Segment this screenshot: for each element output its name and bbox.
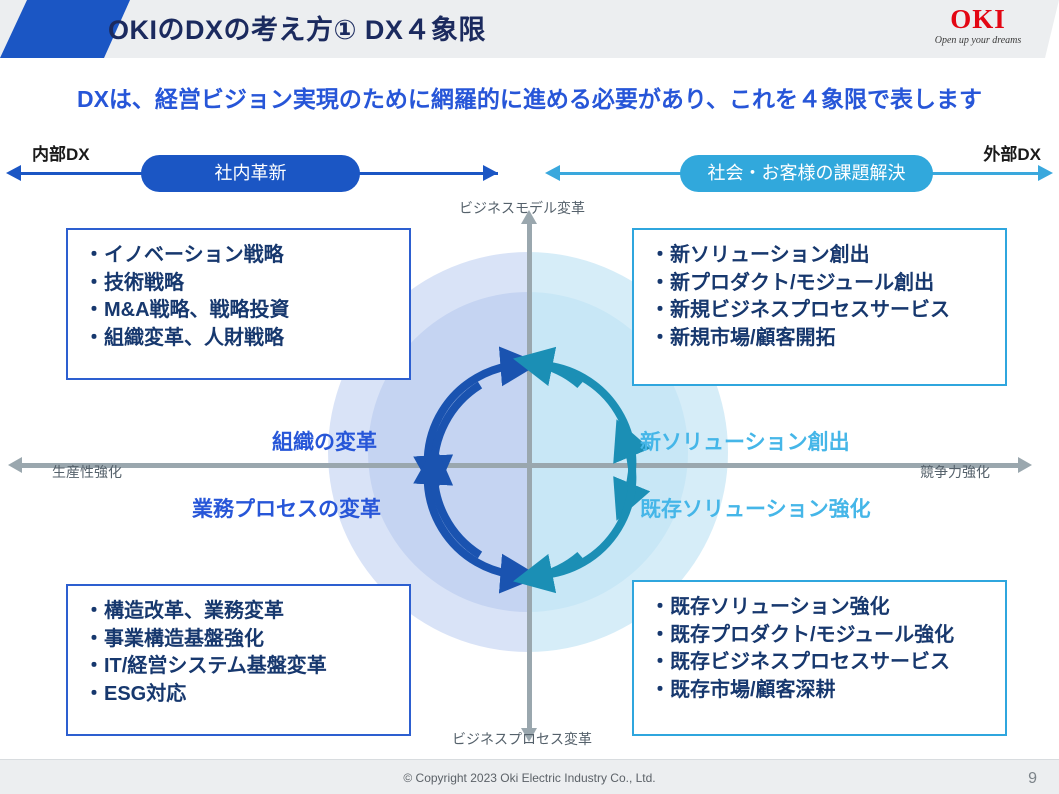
slide-subtitle: DXは、経営ビジョン実現のために網羅的に進める必要があり、これを４象限で表します [0, 80, 1059, 114]
quadrant-label-bottom-left: 業務プロセスの変革 [192, 493, 381, 523]
list-item: ・新規市場/顧客開拓 [650, 325, 989, 353]
arrow-right-icon [1038, 165, 1053, 181]
external-dx-pill: 社会・お客様の課題解決 [680, 155, 933, 192]
quadrant-label-bottom-right: 既存ソリューション強化 [640, 493, 871, 523]
list-item: ・ESG対応 [84, 681, 393, 709]
internal-dx-label: 内部DX [32, 140, 90, 165]
logo-wordmark: OKI [919, 6, 1037, 33]
list-item: ・IT/経営システム基盤変革 [84, 653, 393, 681]
list-item: ・M&A戦略、戦略投資 [84, 297, 393, 325]
arrow-right-icon [1018, 457, 1032, 473]
content-box-bottom-left: ・構造改革、業務変革 ・事業構造基盤強化 ・IT/経営システム基盤変革 ・ESG… [66, 584, 411, 736]
arrow-left-icon [8, 457, 22, 473]
list-item: ・既存ソリューション強化 [650, 594, 989, 622]
list-item: ・構造改革、業務変革 [84, 598, 393, 626]
axis-label-left: 生産性強化 [52, 462, 122, 482]
internal-dx-pill: 社内革新 [141, 155, 360, 192]
arrow-left-icon [6, 165, 21, 181]
arrow-right-icon [483, 165, 498, 181]
axis-label-bottom: ビジネスプロセス変革 [452, 729, 592, 749]
list-item: ・イノベーション戦略 [84, 242, 393, 270]
list-item: ・既存市場/顧客深耕 [650, 677, 989, 705]
content-box-top-right: ・新ソリューション創出 ・新プロダクト/モジュール創出 ・新規ビジネスプロセスサ… [632, 228, 1007, 386]
right-arc-upper [542, 365, 632, 500]
footer-copyright: © Copyright 2023 Oki Electric Industry C… [0, 771, 1059, 785]
quadrant-label-top-right: 新ソリューション創出 [640, 426, 850, 456]
list-item: ・新規ビジネスプロセスサービス [650, 297, 989, 325]
list-item: ・技術戦略 [84, 270, 393, 298]
external-dx-label: 外部DX [983, 140, 1041, 165]
axis-label-right: 競争力強化 [920, 462, 990, 482]
logo-tagline: Open up your dreams [919, 36, 1037, 46]
axis-label-top: ビジネスモデル変革 [459, 198, 585, 218]
oki-logo: OKI Open up your dreams [919, 6, 1037, 46]
list-item: ・新ソリューション創出 [650, 242, 989, 270]
arrow-left-icon [545, 165, 560, 181]
list-item: ・新プロダクト/モジュール創出 [650, 270, 989, 298]
list-item: ・既存ビジネスプロセスサービス [650, 649, 989, 677]
slide-canvas: OKIのDXの考え方① DX４象限 OKI Open up your dream… [0, 0, 1059, 794]
quadrant-label-top-left: 組織の変革 [272, 426, 377, 456]
page-number: 9 [1028, 770, 1037, 788]
list-item: ・既存プロダクト/モジュール強化 [650, 622, 989, 650]
right-arc-lower [542, 440, 632, 575]
page-title: OKIのDXの考え方① DX４象限 [108, 8, 486, 47]
list-item: ・事業構造基盤強化 [84, 626, 393, 654]
content-box-bottom-right: ・既存ソリューション強化 ・既存プロダクト/モジュール強化 ・既存ビジネスプロセ… [632, 580, 1007, 736]
content-box-top-left: ・イノベーション戦略 ・技術戦略 ・M&A戦略、戦略投資 ・組織変革、人財戦略 [66, 228, 411, 380]
list-item: ・組織変革、人財戦略 [84, 325, 393, 353]
